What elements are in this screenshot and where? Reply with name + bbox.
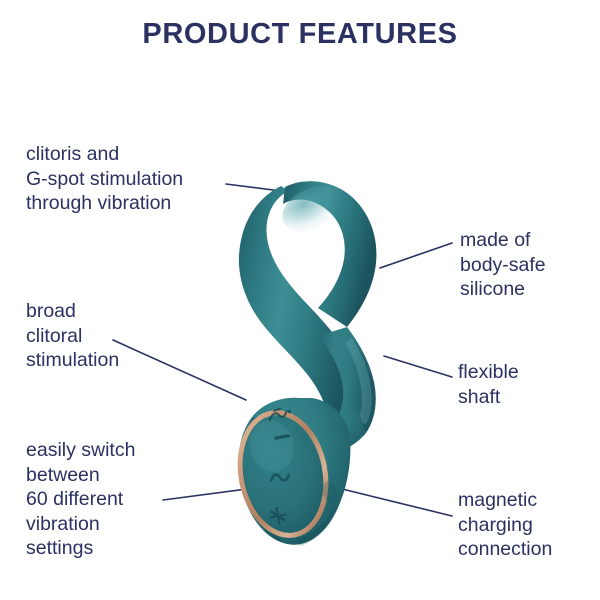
leader-line-flexible-shaft	[384, 356, 452, 377]
callout-easily-switch: easily switch between 60 different vibra…	[26, 438, 206, 561]
leader-line-magnetic-charging	[330, 486, 452, 516]
callout-magnetic-charging: magnetic charging connection	[458, 488, 600, 562]
product-body	[230, 177, 377, 546]
callout-body-safe-silicone: made of body-safe silicone	[460, 228, 600, 302]
leader-line-body-safe-silicone	[380, 243, 452, 268]
callout-broad-clitoral: broad clitoral stimulation	[26, 299, 196, 373]
infographic-root: PRODUCT FEATURES	[0, 0, 600, 600]
callout-clitoris-g-spot: clitoris and G-spot stimulation through …	[26, 142, 236, 216]
callout-flexible-shaft: flexible shaft	[458, 360, 598, 409]
